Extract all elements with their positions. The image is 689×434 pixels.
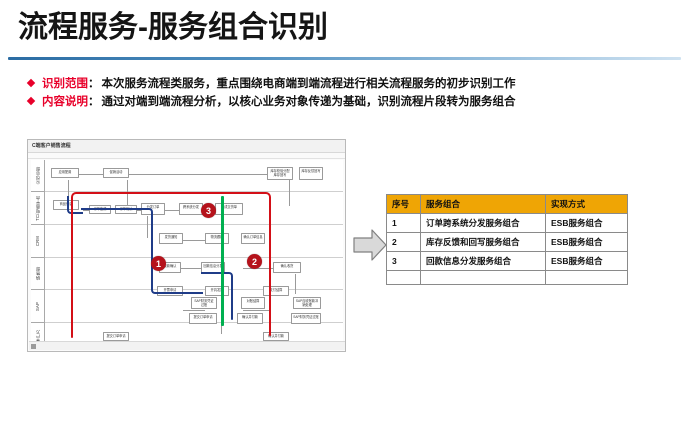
bullet-text: 本次服务流程类服务，重点围绕电商端到端流程进行相关流程服务的初步识别工作 (102, 75, 516, 91)
diagram-node: SAP财务凭证过账 (191, 297, 217, 309)
red-flow-segment (71, 192, 271, 208)
diagram-marker-3[interactable]: 3 (201, 203, 216, 218)
right-block-arrow-icon (352, 228, 388, 262)
table-row: 3 回款信息分发服务组合 ESB服务组合 (387, 252, 628, 271)
diagram-canvas: 公司总部 TC/电商平台 CRM 销售部 SAP 客户方 (31, 160, 343, 350)
diagram-marker-2[interactable]: 2 (247, 254, 262, 269)
bullet-label: 识别范围 (42, 75, 88, 91)
connector (183, 310, 205, 311)
swimlane-label-text: 销售部 (35, 267, 41, 280)
table-row (387, 271, 628, 285)
cell-no: 1 (387, 214, 421, 233)
diagram-node: 物流跟踪 (205, 233, 229, 244)
blue-flow-segment (201, 272, 233, 294)
cell-no: 2 (387, 233, 421, 252)
diagram-node: 支付结算 (263, 286, 289, 296)
table-row: 1 订单跨系统分发服务组合 ESB服务组合 (387, 214, 628, 233)
column-header-no: 序号 (387, 195, 421, 214)
swimlane-label-0: 公司总部 (31, 160, 44, 192)
cell-impl: ESB服务组合 (546, 214, 628, 233)
diagram-window-title: C端客户销售流程 (32, 142, 71, 149)
cell-impl: ESB服务组合 (546, 252, 628, 271)
swimlane-label-text: SAP (35, 302, 40, 311)
diagram-node: 确认订单信息 (241, 233, 265, 244)
diagram-node: 提交订单申请 (189, 313, 217, 324)
diamond-bullet-icon (27, 97, 35, 105)
diagram-node: 提交订单申请 (103, 332, 129, 341)
blue-flow-segment (81, 208, 153, 240)
bullet-colon: ： (88, 93, 100, 109)
connector (79, 174, 103, 175)
cell-no (387, 271, 421, 285)
diagram-node: 发货通知 (159, 233, 183, 244)
diagram-node: 应用配置 (51, 168, 79, 178)
cell-service: 订单跨系统分发服务组合 (421, 214, 546, 233)
slide-root: 流程服务-服务组合识别 识别范围 ： 本次服务流程类服务，重点围绕电商端到端流程… (0, 0, 689, 434)
cell-no: 3 (387, 252, 421, 271)
cell-service: 库存反馈和回写服务组合 (421, 233, 546, 252)
swimlane-label-1: TC/电商平台 (31, 192, 44, 225)
connector (127, 174, 287, 175)
connector (295, 274, 296, 294)
connector (183, 240, 205, 241)
statusbar-handle-icon (31, 344, 36, 349)
diagram-node: 确认收货 (273, 262, 301, 273)
cell-impl: ESB服务组合 (546, 233, 628, 252)
diagram-node: 对账结算 (241, 297, 265, 309)
column-header-impl: 实现方式 (546, 195, 628, 214)
cell-impl (546, 271, 628, 285)
flow-arrow (352, 228, 388, 262)
blue-flow-segment (231, 292, 233, 320)
diagram-marker-1[interactable]: 1 (151, 256, 166, 271)
bullet-item: 内容说明 ： 通过对端到端流程分析，以核心业务对象传递为基础，识别流程片段转为服… (28, 93, 668, 111)
diagram-node: 促销活动 (103, 168, 129, 178)
diagram-node: 库存反馈回写 (299, 167, 323, 180)
swimlane-label-text: CRM (35, 236, 40, 246)
bullet-list: 识别范围 ： 本次服务流程类服务，重点围绕电商端到端流程进行相关流程服务的初步识… (28, 75, 668, 111)
service-composition-table: 序号 服务组合 实现方式 1 订单跨系统分发服务组合 ESB服务组合 2 库存反… (386, 194, 628, 285)
swimlane-label-text: 公司总部 (35, 167, 41, 185)
swimlane-label-column: 公司总部 TC/电商平台 CRM 销售部 SAP 客户方 (31, 160, 45, 350)
connector (165, 210, 179, 211)
diamond-bullet-icon (27, 79, 35, 87)
red-flow-segment (269, 206, 271, 336)
swimlane-label-2: CRM (31, 225, 44, 258)
bullet-colon: ： (88, 75, 100, 91)
connector (243, 310, 271, 311)
green-flow-segment (221, 196, 224, 326)
connector (289, 180, 290, 206)
diagram-node: 库存校验分配库存回写 (267, 167, 293, 180)
swimlane-label-text: TC/电商平台 (35, 196, 41, 221)
cell-service: 回款信息分发服务组合 (421, 252, 546, 271)
table-header-row: 序号 服务组合 实现方式 (387, 195, 628, 214)
swimlane-label-4: SAP (31, 290, 44, 323)
red-flow-segment (71, 206, 73, 338)
diagram-node: SAP财务凭证过账 (291, 313, 321, 324)
page-title: 流程服务-服务组合识别 (18, 8, 328, 48)
bullet-item: 识别范围 ： 本次服务流程类服务，重点围绕电商端到端流程进行相关流程服务的初步识… (28, 75, 668, 93)
cell-service (421, 271, 546, 285)
bullet-label: 内容说明 (42, 93, 88, 109)
diagram-titlebar: C端客户销售流程 (28, 140, 345, 153)
diagram-node: 确认并付款 (263, 332, 289, 341)
diagram-toolbar (28, 153, 345, 159)
bullet-text: 通过对端到端流程分析，以核心业务对象传递为基础，识别流程片段转为服务组合 (102, 93, 516, 109)
diagram-statusbar (29, 341, 346, 350)
column-header-service: 服务组合 (421, 195, 546, 214)
title-divider (8, 57, 681, 60)
swimlane-label-3: 销售部 (31, 258, 44, 290)
diagram-node: SAP应收账款冲销处理 (293, 297, 321, 309)
table-row: 2 库存反馈和回写服务组合 ESB服务组合 (387, 233, 628, 252)
diagram-node: 确认并付款 (237, 313, 263, 324)
process-diagram-panel: C端客户销售流程 公司总部 TC/电商平台 CRM 销售部 SAP (27, 139, 346, 352)
